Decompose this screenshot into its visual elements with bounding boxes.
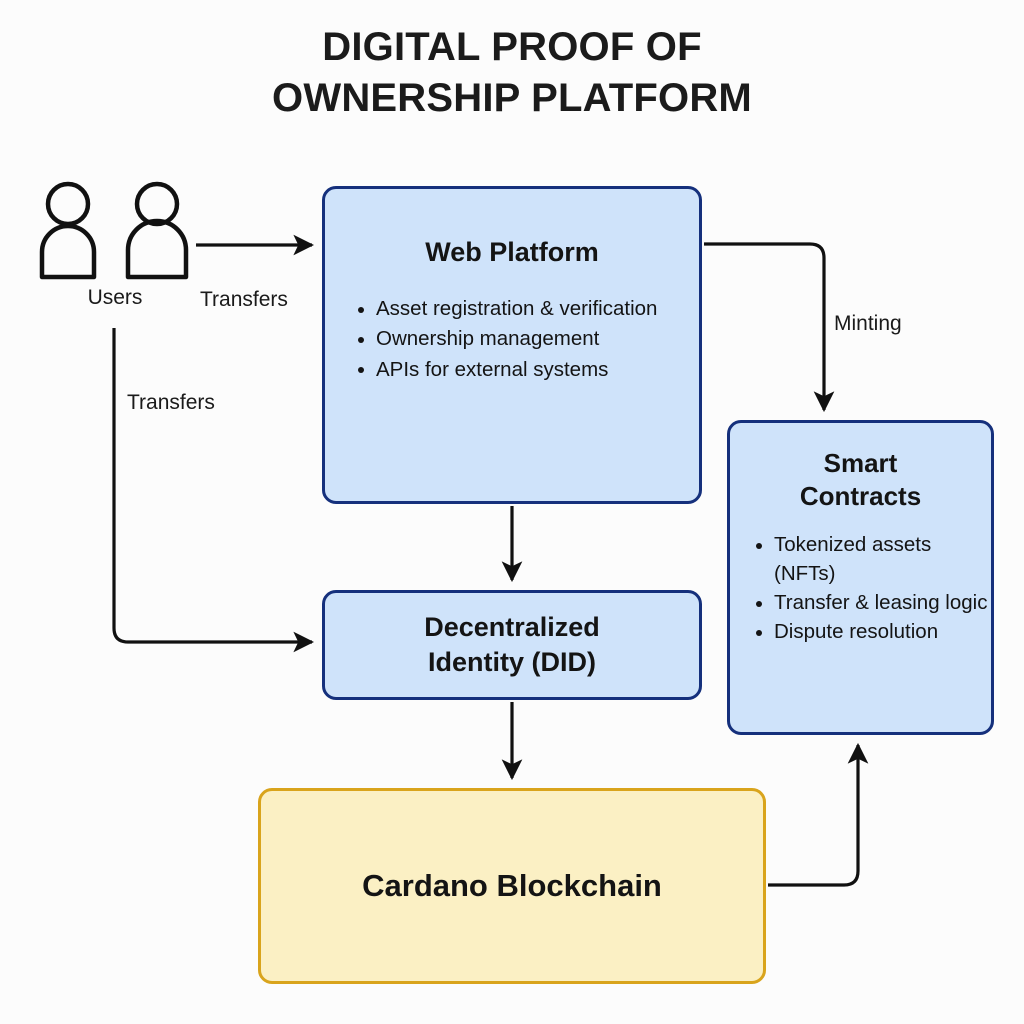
node-cardano-blockchain-title: Cardano Blockchain [362, 868, 662, 904]
list-item: Tokenized assets (NFTs) [752, 530, 991, 588]
edge-label-transfers-left: Transfers [127, 391, 215, 415]
edge-label-transfers-top: Transfers [200, 288, 288, 312]
node-web-platform-bullets: Asset registration & verification Owners… [325, 294, 699, 385]
user-icon-1 [42, 184, 94, 277]
list-item: Dispute resolution [752, 617, 991, 646]
node-decentralized-identity-title-line-2: Identity (DID) [424, 645, 600, 680]
list-item: Transfer & leasing logic [752, 588, 991, 617]
list-item: APIs for external systems [354, 355, 699, 385]
node-web-platform[interactable]: Web Platform Asset registration & verifi… [322, 186, 702, 504]
edge-label-minting: Minting [834, 312, 902, 336]
node-smart-contracts[interactable]: Smart Contracts Tokenized assets (NFTs) … [727, 420, 994, 735]
edge-web-platform-to-smart-contracts [704, 244, 824, 410]
node-web-platform-title: Web Platform [325, 237, 699, 268]
edge-cardano-to-smart-contracts [768, 745, 858, 885]
node-decentralized-identity[interactable]: Decentralized Identity (DID) [322, 590, 702, 700]
node-smart-contracts-bullets: Tokenized assets (NFTs) Transfer & leasi… [730, 530, 991, 646]
list-item: Ownership management [354, 324, 699, 354]
node-decentralized-identity-title-line-1: Decentralized [424, 610, 600, 645]
users-label: Users [40, 286, 190, 310]
node-smart-contracts-title-line-1: Smart [730, 447, 991, 480]
user-icon-2 [128, 184, 186, 277]
diagram-canvas: DIGITAL PROOF OF OWNERSHIP PLATFORM [0, 0, 1024, 1024]
edge-users-to-did [114, 328, 312, 642]
node-cardano-blockchain[interactable]: Cardano Blockchain [258, 788, 766, 984]
node-smart-contracts-title: Smart Contracts [730, 447, 991, 512]
node-smart-contracts-title-line-2: Contracts [730, 480, 991, 513]
list-item: Asset registration & verification [354, 294, 699, 324]
node-decentralized-identity-title: Decentralized Identity (DID) [424, 610, 600, 679]
